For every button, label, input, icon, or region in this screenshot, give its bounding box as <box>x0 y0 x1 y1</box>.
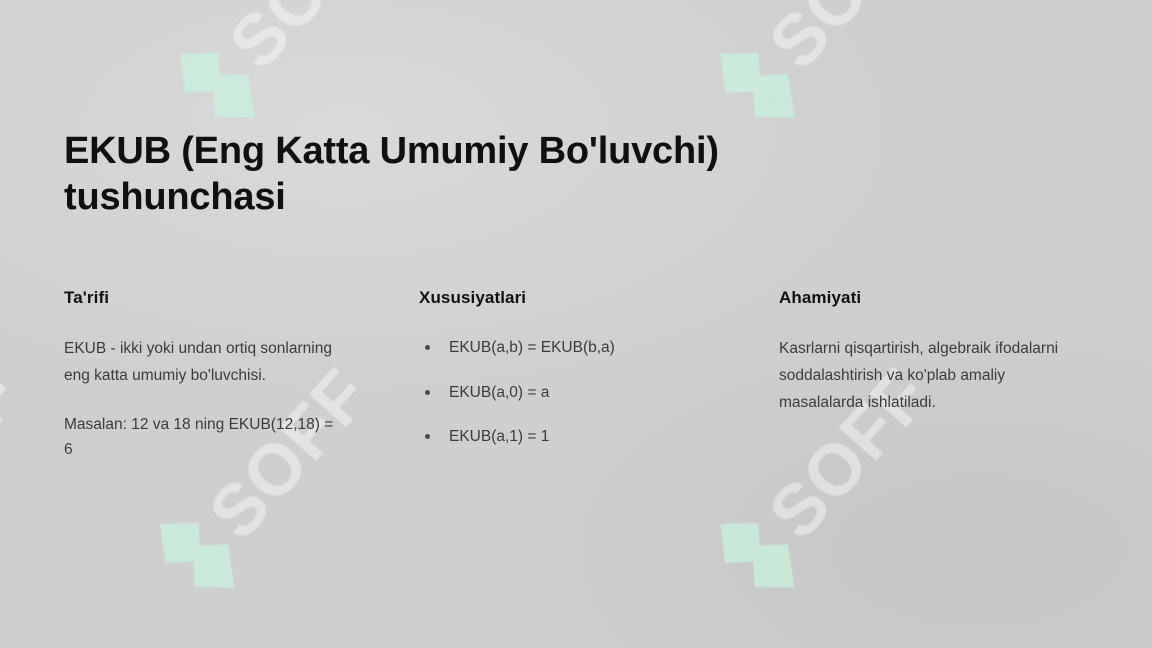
column-paragraph: Masalan: 12 va 18 ning EKUB(12,18) = 6 <box>64 412 339 463</box>
column-ahamiyati: Ahamiyati Kasrlarni qisqartirish, algebr… <box>779 288 1088 416</box>
column-tarifi: Ta'rifi EKUB - ikki yoki undan ortiq son… <box>64 288 419 463</box>
column-heading-tarifi: Ta'rifi <box>64 288 419 308</box>
list-item-label: EKUB(a,1) = 1 <box>449 428 549 445</box>
column-paragraph: Kasrlarni qisqartirish, algebraik ifodal… <box>779 336 1069 416</box>
column-group: Ta'rifi EKUB - ikki yoki undan ortiq son… <box>64 288 1088 463</box>
list-item: EKUB(a,0) = a <box>419 381 779 404</box>
slide-canvas: SOFF SOFF SOFF SOFF <box>0 0 1152 648</box>
watermark-tile: SOFF <box>156 0 414 147</box>
list-item: EKUB(a,b) = EKUB(b,a) <box>419 336 779 359</box>
column-paragraph: EKUB - ikki yoki undan ortiq sonlarning … <box>64 336 339 389</box>
watermark-text: SOFF <box>754 0 946 85</box>
column-xususiyatlari: Xususiyatlari EKUB(a,b) = EKUB(b,a) EKUB… <box>419 288 779 448</box>
properties-list: EKUB(a,b) = EKUB(b,a) EKUB(a,0) = a EKUB… <box>419 336 779 448</box>
bullet-dot-icon <box>425 345 430 350</box>
bullet-dot-icon <box>425 390 430 395</box>
column-heading-ahamiyati: Ahamiyati <box>779 288 1088 308</box>
list-item-label: EKUB(a,b) = EKUB(b,a) <box>449 339 615 356</box>
watermark-tile: SOFF <box>0 347 44 617</box>
watermark-text: SOFF <box>0 354 36 555</box>
page-title: EKUB (Eng Katta Umumiy Bo'luvchi) tushun… <box>64 128 924 221</box>
list-item: EKUB(a,1) = 1 <box>419 425 779 448</box>
watermark-tile: SOFF <box>696 0 954 147</box>
bullet-dot-icon <box>425 434 430 439</box>
k-chevron-logo-icon <box>696 496 820 618</box>
k-chevron-logo-icon <box>136 496 260 618</box>
column-heading-xususiyatlari: Xususiyatlari <box>419 288 779 308</box>
watermark-text: SOFF <box>214 0 406 85</box>
list-item-label: EKUB(a,0) = a <box>449 384 549 401</box>
